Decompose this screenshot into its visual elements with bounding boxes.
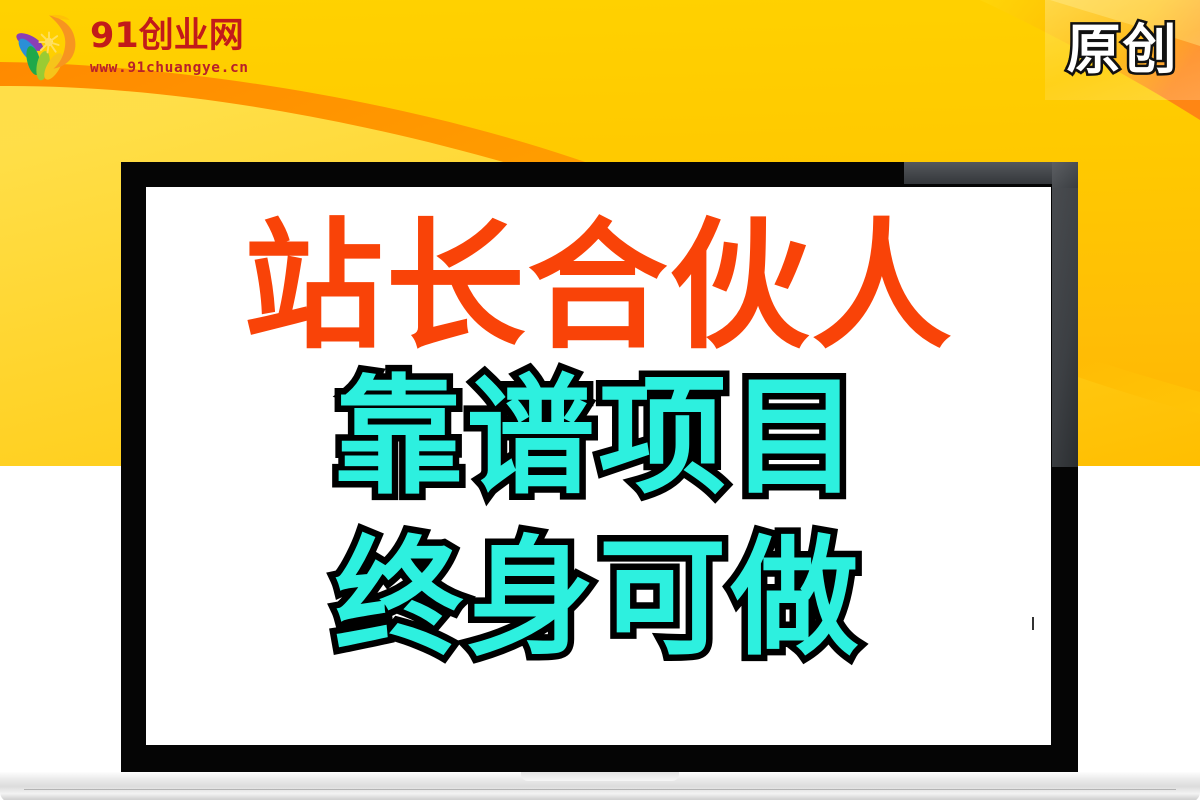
rainbow-flower-logo-icon — [12, 8, 86, 82]
original-badge-label: 原创 — [1067, 23, 1179, 77]
laptop-screen[interactable]: 站长合伙人 靠谱项目 终身可做 — [146, 187, 1051, 745]
logo-text-block: 91创业网 www.91chuangye.cn — [90, 15, 249, 76]
laptop-bezel-top-accent — [904, 162, 1064, 184]
laptop-bezel-side-accent — [1052, 162, 1078, 467]
laptop-base-notch — [521, 772, 679, 781]
laptop-mockup: 站长合伙人 靠谱项目 终身可做 — [121, 162, 1078, 772]
brand-name: 91创业网 — [90, 19, 244, 54]
site-logo[interactable]: 91创业网 www.91chuangye.cn — [12, 8, 249, 82]
laptop-base-seam — [24, 789, 1176, 790]
brand-url: www.91chuangye.cn — [90, 61, 249, 76]
promo-poster-canvas: 91创业网 www.91chuangye.cn 原创 站长合伙人 靠谱项目 终身… — [0, 0, 1200, 800]
headline-line-1: 站长合伙人 — [243, 215, 953, 361]
original-badge: 原创 — [1045, 0, 1200, 100]
laptop-base — [0, 772, 1200, 800]
text-caret — [1032, 617, 1034, 630]
headline-line-3: 终身可做 — [334, 522, 862, 676]
headline-line-2: 靠谱项目 — [334, 361, 862, 515]
screen-content: 站长合伙人 靠谱项目 终身可做 — [146, 187, 1051, 745]
laptop-bezel-corner-accent — [1052, 162, 1078, 188]
